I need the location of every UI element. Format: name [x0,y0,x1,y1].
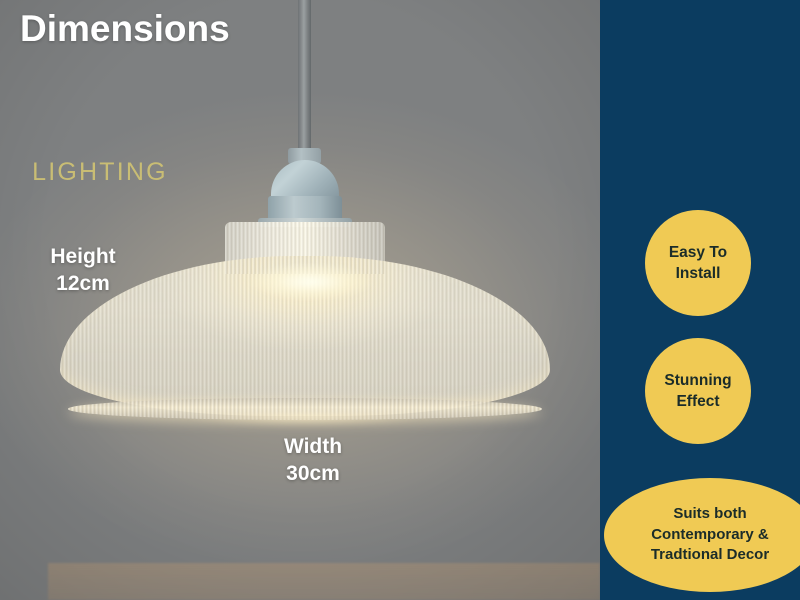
feature-line-3: Tradtional Decor [645,545,775,566]
feature-line-1: Suits both [645,504,775,525]
feature-bubble-easy-to-install: Easy To Install [645,210,751,316]
page-title: Dimensions [20,8,230,50]
feature-line-2: Effect [658,391,737,412]
feature-bubble-text: Easy To Install [657,242,739,285]
feature-bubble-suits-both-decor: Suits both Contemporary & Tradtional Dec… [604,478,800,592]
feature-bubble-stunning-effect: Stunning Effect [645,338,751,444]
feature-line-1: Stunning [658,370,737,391]
feature-line-2: Contemporary & [645,525,775,546]
product-image: Dimensions Height 12cm Width 30cm LIGHTI… [0,0,800,600]
height-value-text: 12cm [18,270,148,297]
photo-vignette [0,0,600,600]
width-label-text: Width [238,433,388,460]
height-label-text: Height [18,243,148,270]
feature-line-1: Easy To [663,242,733,263]
feature-bubble-text: Suits both Contemporary & Tradtional Dec… [639,504,781,566]
width-dimension-label: Width 30cm [238,433,388,488]
product-photo [0,0,600,600]
width-value-text: 30cm [238,460,388,487]
brand-label: LIGHTING [0,158,200,187]
feature-bubble-text: Stunning Effect [652,370,743,413]
height-dimension-label: Height 12cm [18,243,148,298]
feature-line-2: Install [663,263,733,284]
